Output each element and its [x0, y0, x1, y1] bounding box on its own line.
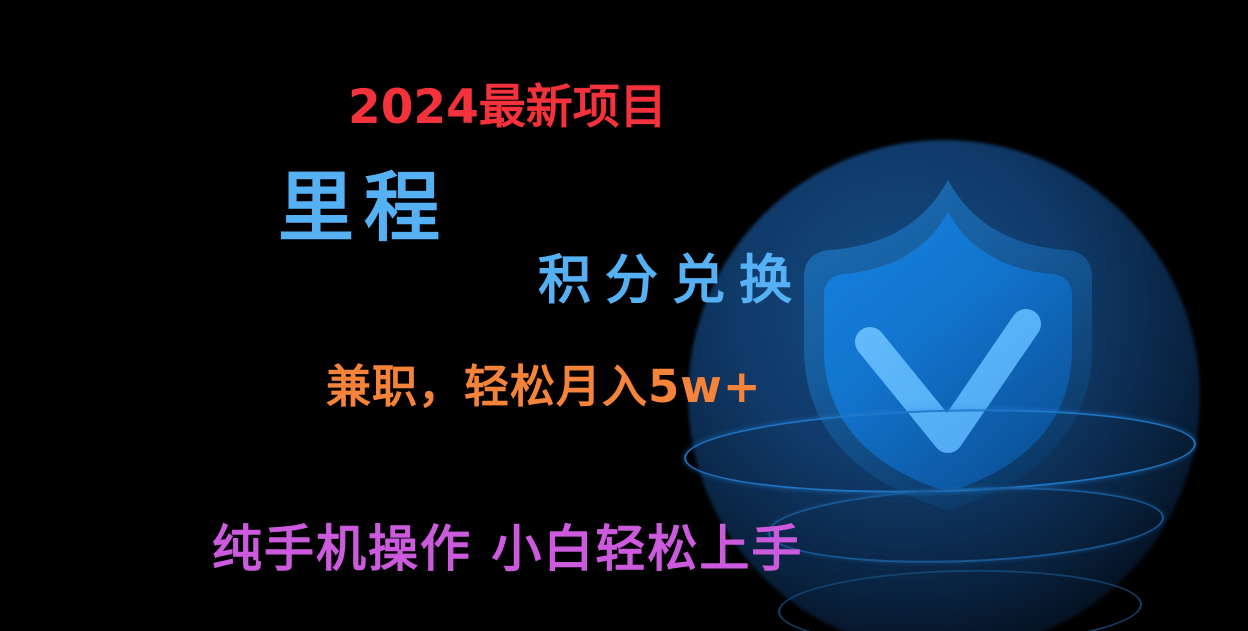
sub-title-text: 积分兑换: [538, 254, 806, 307]
ease-claim-text: 纯手机操作 小白轻松上手: [212, 524, 803, 574]
income-claim-text: 兼职，轻松月入5w+: [326, 364, 762, 409]
year-badge-text: 2024最新项目: [348, 84, 667, 131]
main-title-text: 里程: [278, 170, 450, 246]
promo-poster: 2024最新项目 里程 积分兑换 兼职，轻松月入5w+ 纯手机操作 小白轻松上手: [0, 0, 1248, 631]
text-layer: 2024最新项目 里程 积分兑换 兼职，轻松月入5w+ 纯手机操作 小白轻松上手: [0, 0, 1248, 631]
